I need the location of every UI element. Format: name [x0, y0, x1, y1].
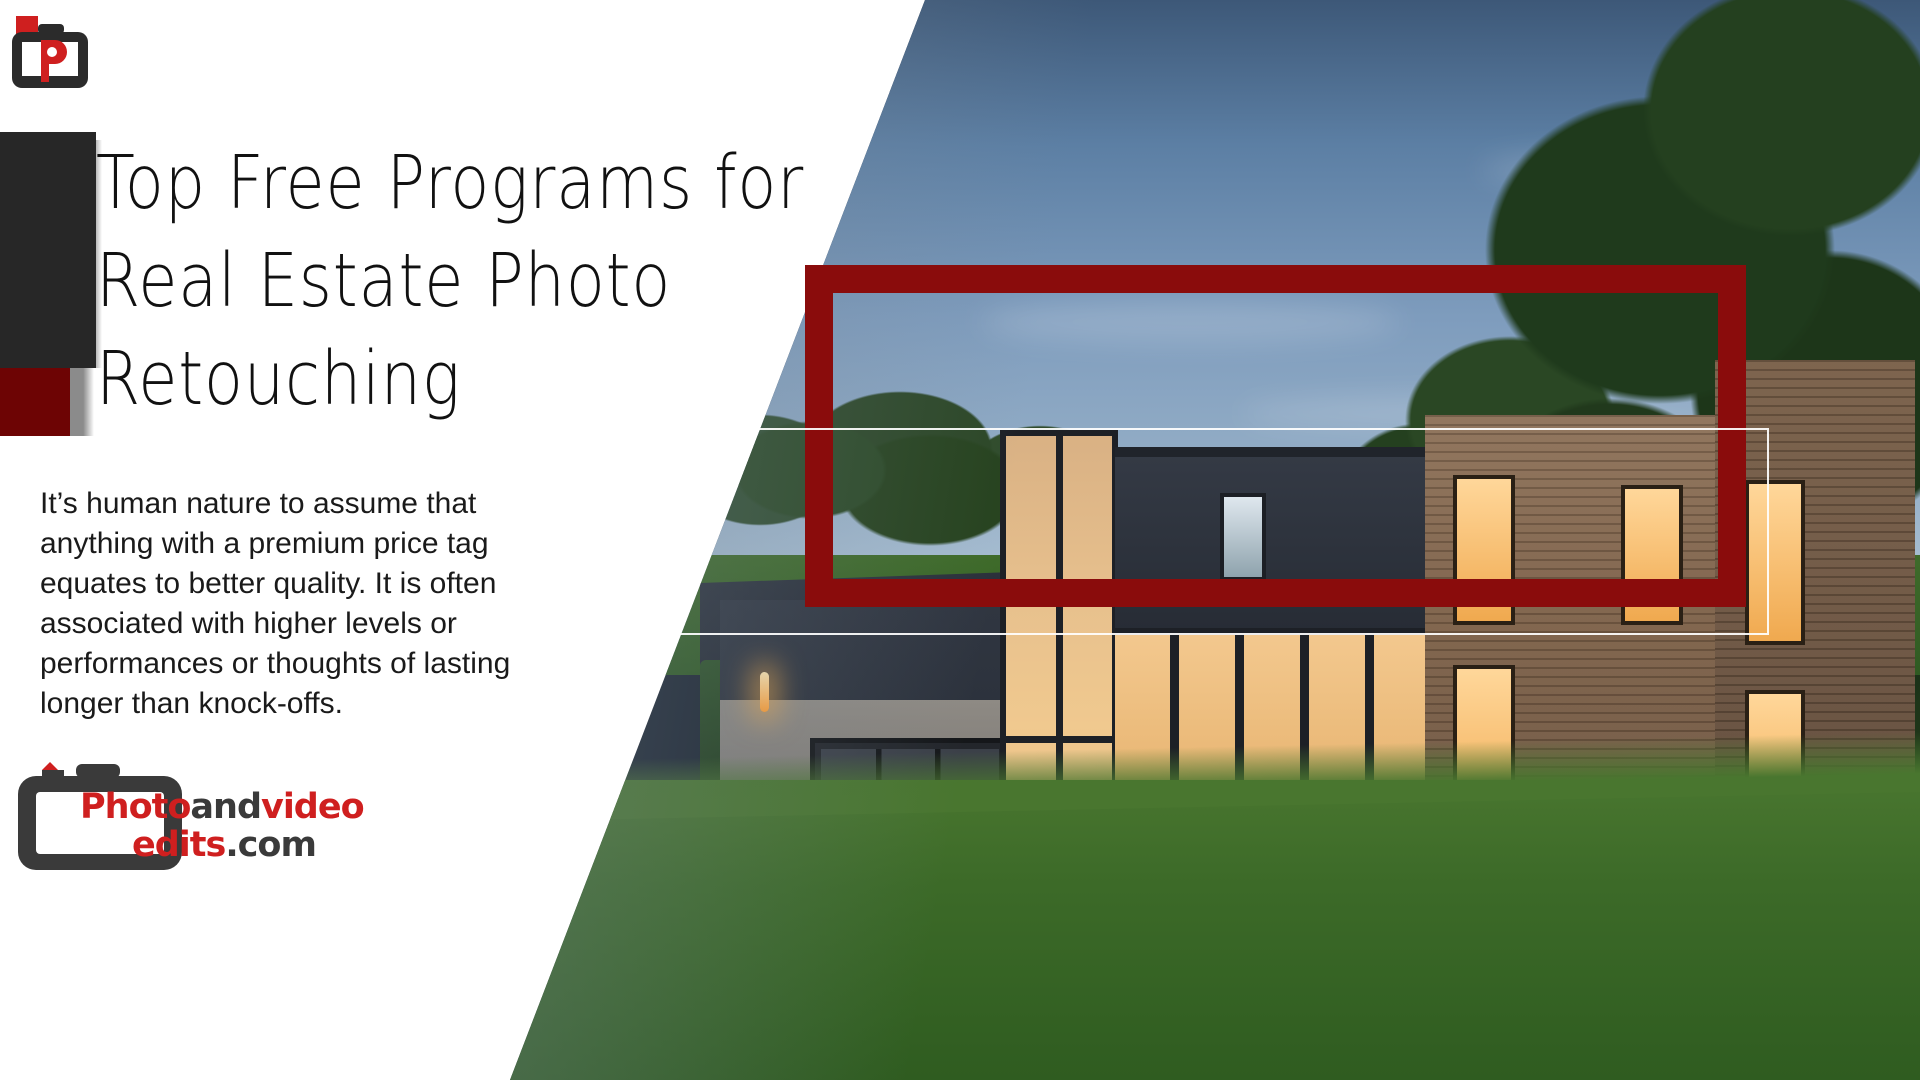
- footer-word-photo: hoto: [105, 787, 191, 827]
- footer-word-and: and: [190, 787, 261, 827]
- white-thin-frame: [638, 428, 1769, 635]
- footer-word-edits: edits: [132, 825, 225, 865]
- brand-camera-icon: [8, 14, 92, 92]
- body-paragraph: It’s human nature to assume that anythin…: [40, 484, 560, 724]
- footer-brand-logo[interactable]: Photoandvideo edits.com: [14, 744, 359, 874]
- title-line-2: Real Estate Photo: [96, 232, 750, 330]
- decor-gray-strip: [70, 368, 94, 436]
- footer-brand-text: Photoandvideo edits.com: [80, 788, 370, 864]
- footer-letter-p: P: [80, 787, 105, 827]
- decor-red-block: [0, 368, 70, 436]
- footer-word-video: video: [261, 787, 364, 827]
- decor-dark-block: [0, 132, 96, 368]
- title-line-1: Top Free Programs for: [96, 134, 750, 232]
- page-title: Top Free Programs for Real Estate Photo …: [96, 134, 750, 428]
- footer-word-dotcom: .com: [225, 825, 316, 865]
- title-line-3: Retouching: [96, 330, 750, 428]
- banner-canvas: Top Free Programs for Real Estate Photo …: [0, 0, 1920, 1080]
